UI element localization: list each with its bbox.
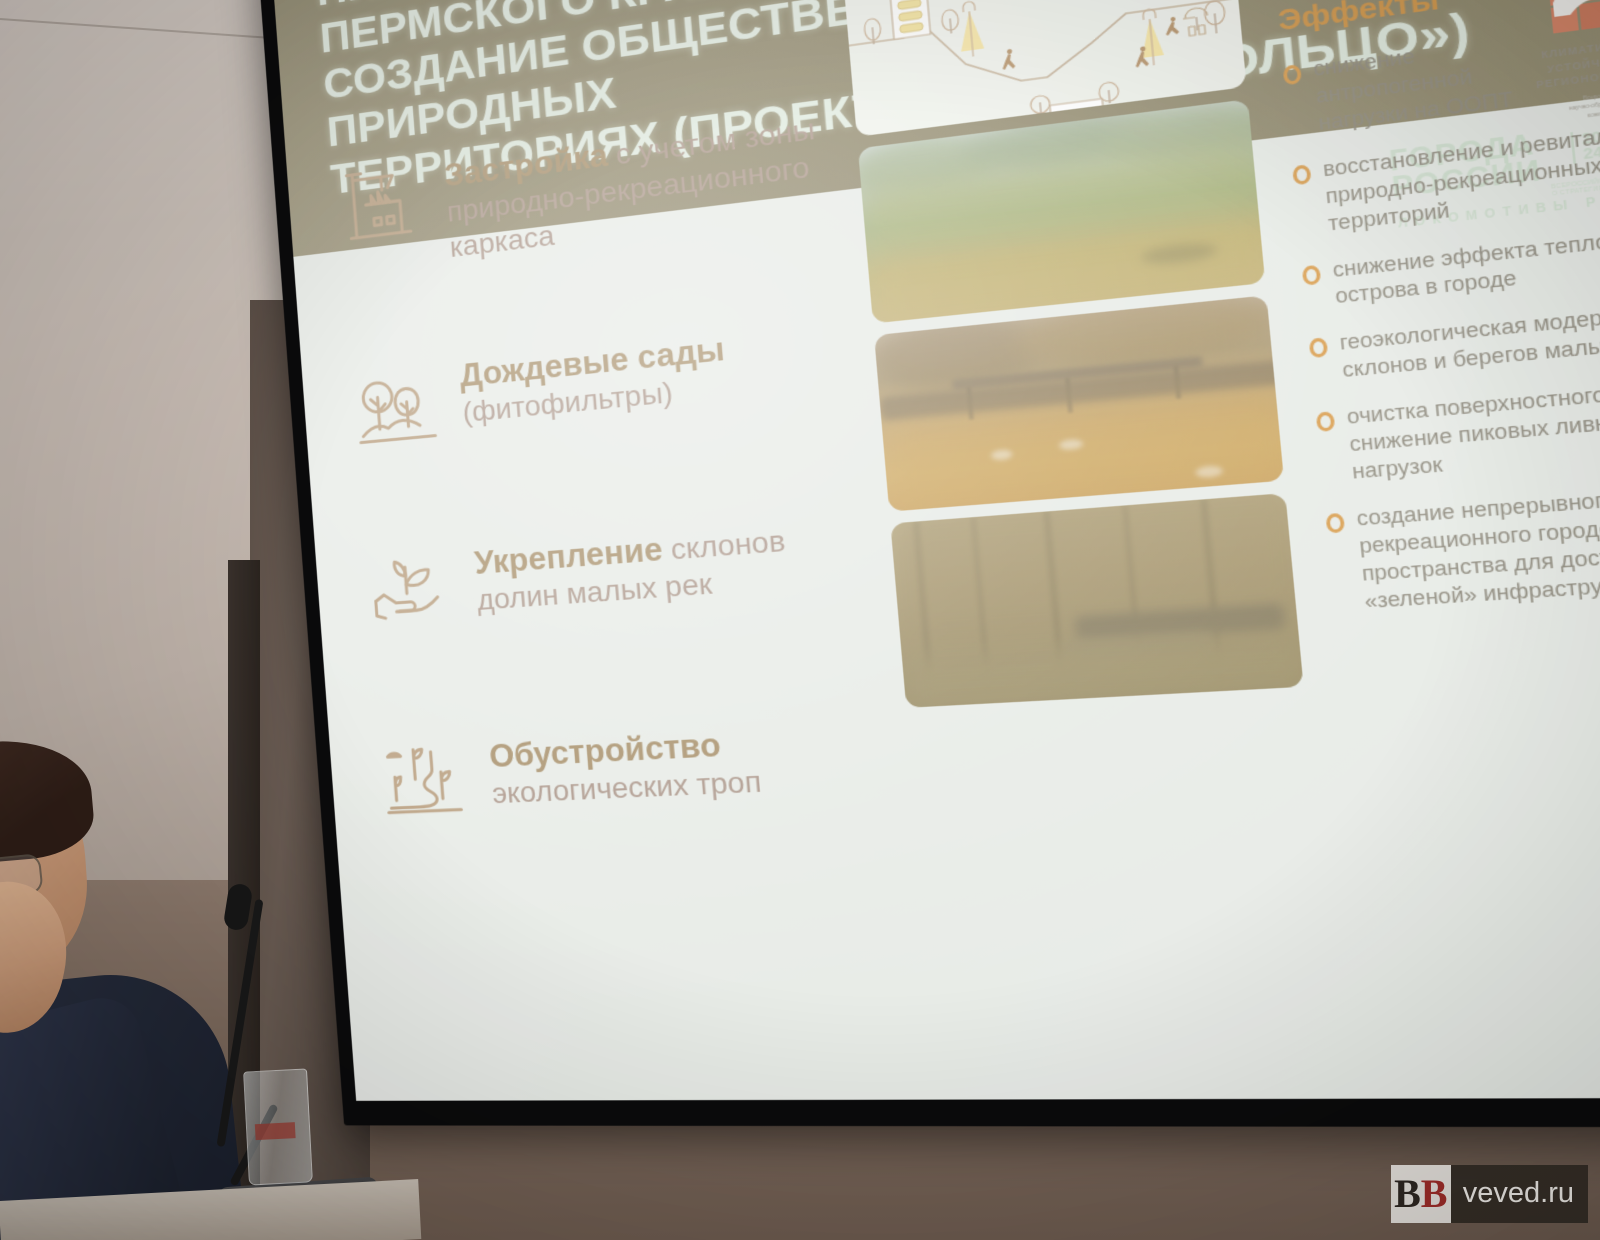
feature-text: Укрепление склонов долин малых рек xyxy=(472,507,874,619)
watermark-letter-left: В xyxy=(1394,1174,1421,1214)
projection-screen: ПИЛОТНЫЙ АДАПТАЦИОННЫЙ ПРОЕКТ ПЕРМСКОГО … xyxy=(257,0,1600,1127)
bullet-icon xyxy=(1283,64,1302,85)
hand-sprout-icon xyxy=(360,540,459,640)
polar-bear-mark-icon xyxy=(1542,0,1600,36)
media-column xyxy=(842,0,1305,720)
trees-icon xyxy=(346,353,445,455)
feature-heading: Обустройство xyxy=(488,726,722,774)
screenshot-stage: ПИЛОТНЫЙ АДАПТАЦИОННЫЙ ПРОЕКТ ПЕРМСКОГО … xyxy=(0,0,1600,1240)
bullet-icon xyxy=(1309,338,1329,359)
photo-texture xyxy=(858,99,1265,323)
watermark-mark: ВВ xyxy=(1391,1165,1451,1223)
feature-item: Укрепление склонов долин малых рек xyxy=(360,507,875,640)
screen-surface: ПИЛОТНЫЙ АДАПТАЦИОННЫЙ ПРОЕКТ ПЕРМСКОГО … xyxy=(271,0,1600,1101)
effect-item: очистка поверхностного стока и снижение … xyxy=(1315,372,1600,489)
bullet-icon xyxy=(1325,513,1345,534)
watermark-letter-right: В xyxy=(1421,1174,1448,1214)
photo-texture xyxy=(874,295,1284,511)
slide: ПИЛОТНЫЙ АДАПТАЦИОННЫЙ ПРОЕКТ ПЕРМСКОГО … xyxy=(271,0,1600,1101)
feature-text: Обустройство экологических троп xyxy=(487,717,762,813)
meadow-slope-photo xyxy=(858,99,1265,323)
feature-item: Обустройство экологических троп xyxy=(375,710,894,830)
microphone-capsule-icon xyxy=(223,882,254,931)
photo-texture xyxy=(890,493,1303,708)
forest-path-photo xyxy=(890,493,1303,708)
eco-trail-icon xyxy=(375,732,475,830)
effect-item: создание непрерывного рекреационного гор… xyxy=(1325,478,1600,617)
water-glass xyxy=(243,1068,313,1185)
construction-crane-icon xyxy=(332,154,430,257)
feature-text: Дождевые сады (фитофильтры) xyxy=(458,323,729,431)
bullet-icon xyxy=(1302,264,1322,285)
brand-climate-title: КЛИМАТИЧЕСКАЯ УСТОЙЧИВОСТЬ РЕГИОНОВ РОСС… xyxy=(1525,31,1600,94)
watermark-label: veved.ru xyxy=(1451,1165,1588,1223)
feature-list: Застройка с учетом зоны природно-рекреац… xyxy=(332,99,902,916)
feature-item: Дождевые сады (фитофильтры) xyxy=(346,310,858,455)
boardwalk-autumn-photo xyxy=(874,295,1284,511)
bullet-icon xyxy=(1316,411,1336,432)
bullet-icon xyxy=(1292,164,1311,185)
watermark: ВВ veved.ru xyxy=(1391,1164,1588,1224)
